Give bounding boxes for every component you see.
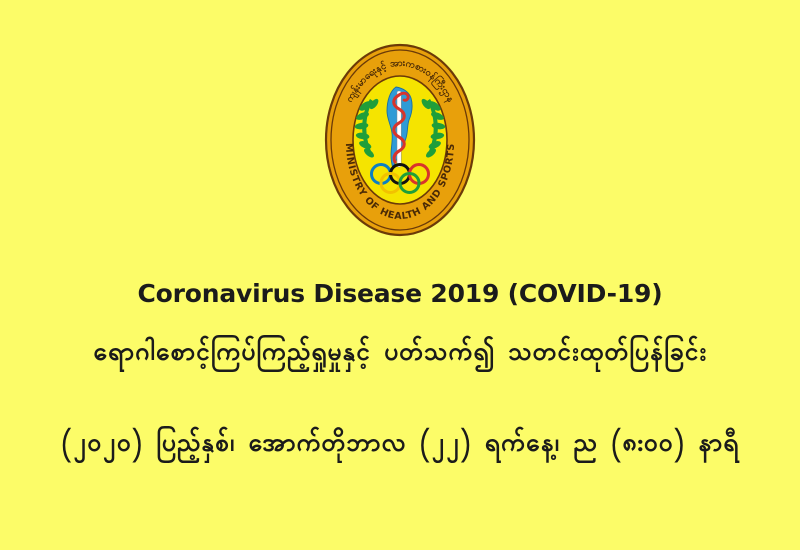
announcement-card: ကျန်းမာရေးနှင့် အားကစားဝန်ကြီးဌာန MINIST… <box>0 0 800 550</box>
subject-burmese: ရောဂါစောင့်ကြပ်ကြည့်ရှုမှုနှင့် ပတ်သက်၍ … <box>0 333 800 375</box>
ministry-seal: ကျန်းမာရေးနှင့် အားကစားဝန်ကြီးဌာန MINIST… <box>324 43 476 237</box>
datetime-burmese: (၂၀၂၀) ပြည့်နှစ်၊ အောက်တိုဘာလ (၂၂) ရက်နေ… <box>0 424 800 466</box>
title-english: Coronavirus Disease 2019 (COVID-19) <box>0 278 800 310</box>
